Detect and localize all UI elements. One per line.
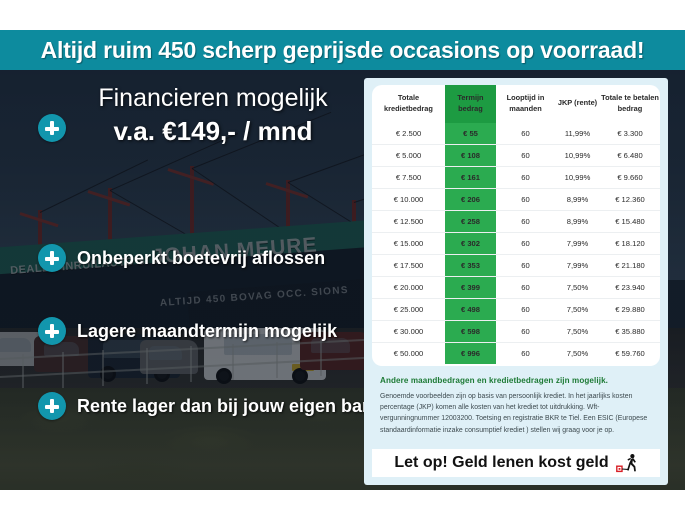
benefit-item-1: Onbeperkt boetevrij aflossen bbox=[38, 244, 325, 272]
note-title: Andere maandbedragen en kredietbedragen … bbox=[380, 376, 652, 385]
table-cell: 60 bbox=[496, 189, 555, 211]
table-row: € 10.000€ 206608,99%€ 12.360 bbox=[372, 189, 660, 211]
table-header-row: Totale kredietbedrag Termijn bedrag Loop… bbox=[372, 85, 660, 123]
table-cell: € 108 bbox=[445, 145, 496, 167]
table-row: € 50.000€ 996607,50%€ 59.760 bbox=[372, 343, 660, 365]
table-cell: 60 bbox=[496, 145, 555, 167]
table-cell: 7,99% bbox=[555, 255, 600, 277]
table-row: € 17.500€ 353607,99%€ 21.180 bbox=[372, 255, 660, 277]
table-row: € 5.000€ 1086010,99%€ 6.480 bbox=[372, 145, 660, 167]
table-cell: € 5.000 bbox=[372, 145, 445, 167]
table-cell: 60 bbox=[496, 299, 555, 321]
table-cell: 11,99% bbox=[555, 123, 600, 145]
table-cell: 60 bbox=[496, 321, 555, 343]
table-cell: € 55 bbox=[445, 123, 496, 145]
table-cell: € 996 bbox=[445, 343, 496, 365]
table-cell: 7,50% bbox=[555, 343, 600, 365]
table-cell: € 2.500 bbox=[372, 123, 445, 145]
col-header-totale-kredietbedrag: Totale kredietbedrag bbox=[372, 85, 445, 123]
table-cell: € 29.880 bbox=[600, 299, 660, 321]
benefits-list: Financieren mogelijk v.a. €149,- / mnd O… bbox=[0, 70, 370, 490]
table-cell: € 258 bbox=[445, 211, 496, 233]
table-cell: 60 bbox=[496, 277, 555, 299]
plus-icon bbox=[38, 244, 66, 272]
table-row: € 7.500€ 1616010,99%€ 9.660 bbox=[372, 167, 660, 189]
col-header-totale-te-betalen: Totale te betalen bedrag bbox=[600, 85, 660, 123]
table-cell: 7,50% bbox=[555, 277, 600, 299]
plus-icon bbox=[38, 317, 66, 345]
table-row: € 12.500€ 258608,99%€ 15.480 bbox=[372, 211, 660, 233]
table-cell: € 50.000 bbox=[372, 343, 445, 365]
col-header-termijn-bedrag: Termijn bedrag bbox=[445, 85, 496, 123]
table-cell: € 498 bbox=[445, 299, 496, 321]
table-cell: € 12.360 bbox=[600, 189, 660, 211]
table-cell: € 30.000 bbox=[372, 321, 445, 343]
table-cell: € 598 bbox=[445, 321, 496, 343]
credit-warning-bar: Let op! Geld lenen kost geld bbox=[372, 449, 660, 477]
dealership-photo: DEALER INRUILAUTO'S JOHAN MEURE ALTIJD 4… bbox=[0, 70, 685, 490]
plus-icon bbox=[38, 114, 66, 142]
table-cell: 60 bbox=[496, 233, 555, 255]
headline-line-1: Financieren mogelijk bbox=[58, 84, 368, 113]
financing-table-card: Totale kredietbedrag Termijn bedrag Loop… bbox=[372, 85, 660, 366]
advertisement-banner: Altijd ruim 450 scherp geprijsde occasio… bbox=[0, 0, 685, 513]
benefit-item-2: Lagere maandtermijn mogelijk bbox=[38, 317, 337, 345]
table-cell: € 353 bbox=[445, 255, 496, 277]
table-cell: 60 bbox=[496, 255, 555, 277]
table-cell: 10,99% bbox=[555, 167, 600, 189]
table-cell: € 399 bbox=[445, 277, 496, 299]
table-cell: € 3.300 bbox=[600, 123, 660, 145]
table-cell: 8,99% bbox=[555, 211, 600, 233]
table-cell: € 12.500 bbox=[372, 211, 445, 233]
table-row: € 30.000€ 598607,50%€ 35.880 bbox=[372, 321, 660, 343]
table-cell: 8,99% bbox=[555, 189, 600, 211]
credit-warning-text: Let op! Geld lenen kost geld bbox=[394, 454, 608, 472]
table-row: € 25.000€ 498607,50%€ 29.880 bbox=[372, 299, 660, 321]
table-cell: 60 bbox=[496, 167, 555, 189]
table-cell: 10,99% bbox=[555, 145, 600, 167]
table-row: € 15.000€ 302607,99%€ 18.120 bbox=[372, 233, 660, 255]
table-cell: € 206 bbox=[445, 189, 496, 211]
benefit-item-3: Rente lager dan bij jouw eigen bank bbox=[38, 392, 383, 420]
table-cell: € 6.480 bbox=[600, 145, 660, 167]
running-person-with-block-icon bbox=[616, 453, 638, 473]
table-head: Totale kredietbedrag Termijn bedrag Loop… bbox=[372, 85, 660, 123]
note-body: Genoemde voorbeelden zijn op basis van p… bbox=[380, 391, 648, 436]
headline-line-2: v.a. €149,- / mnd bbox=[58, 116, 368, 147]
table-cell: 7,99% bbox=[555, 233, 600, 255]
table-cell: € 25.000 bbox=[372, 299, 445, 321]
table-row: € 20.000€ 399607,50%€ 23.940 bbox=[372, 277, 660, 299]
benefit-label: Rente lager dan bij jouw eigen bank bbox=[77, 396, 383, 417]
headline-banner: Altijd ruim 450 scherp geprijsde occasio… bbox=[0, 30, 685, 70]
table-cell: € 17.500 bbox=[372, 255, 445, 277]
table-cell: € 18.120 bbox=[600, 233, 660, 255]
table-cell: 60 bbox=[496, 343, 555, 365]
financing-headline: Financieren mogelijk v.a. €149,- / mnd bbox=[58, 84, 368, 147]
table-cell: € 59.760 bbox=[600, 343, 660, 365]
table-body: € 2.500€ 556011,99%€ 3.300€ 5.000€ 10860… bbox=[372, 123, 660, 364]
banner-title: Altijd ruim 450 scherp geprijsde occasio… bbox=[41, 37, 645, 64]
table-cell: € 7.500 bbox=[372, 167, 445, 189]
table-cell: € 10.000 bbox=[372, 189, 445, 211]
table-cell: € 9.660 bbox=[600, 167, 660, 189]
top-margin bbox=[0, 0, 685, 30]
financing-table: Totale kredietbedrag Termijn bedrag Loop… bbox=[372, 85, 660, 364]
table-cell: 7,50% bbox=[555, 321, 600, 343]
table-cell: € 21.180 bbox=[600, 255, 660, 277]
financing-info-panel: Totale kredietbedrag Termijn bedrag Loop… bbox=[364, 78, 668, 485]
table-cell: € 15.000 bbox=[372, 233, 445, 255]
table-cell: € 15.480 bbox=[600, 211, 660, 233]
table-cell: € 161 bbox=[445, 167, 496, 189]
table-cell: 7,50% bbox=[555, 299, 600, 321]
table-cell: € 20.000 bbox=[372, 277, 445, 299]
table-cell: 60 bbox=[496, 211, 555, 233]
table-cell: € 302 bbox=[445, 233, 496, 255]
table-cell: 60 bbox=[496, 123, 555, 145]
col-header-jkp: JKP (rente) bbox=[555, 85, 600, 123]
table-cell: € 35.880 bbox=[600, 321, 660, 343]
col-header-looptijd: Looptijd in maanden bbox=[496, 85, 555, 123]
bottom-margin bbox=[0, 490, 685, 513]
benefit-label: Onbeperkt boetevrij aflossen bbox=[77, 248, 325, 269]
benefit-label: Lagere maandtermijn mogelijk bbox=[77, 321, 337, 342]
table-row: € 2.500€ 556011,99%€ 3.300 bbox=[372, 123, 660, 145]
table-cell: € 23.940 bbox=[600, 277, 660, 299]
plus-icon bbox=[38, 392, 66, 420]
